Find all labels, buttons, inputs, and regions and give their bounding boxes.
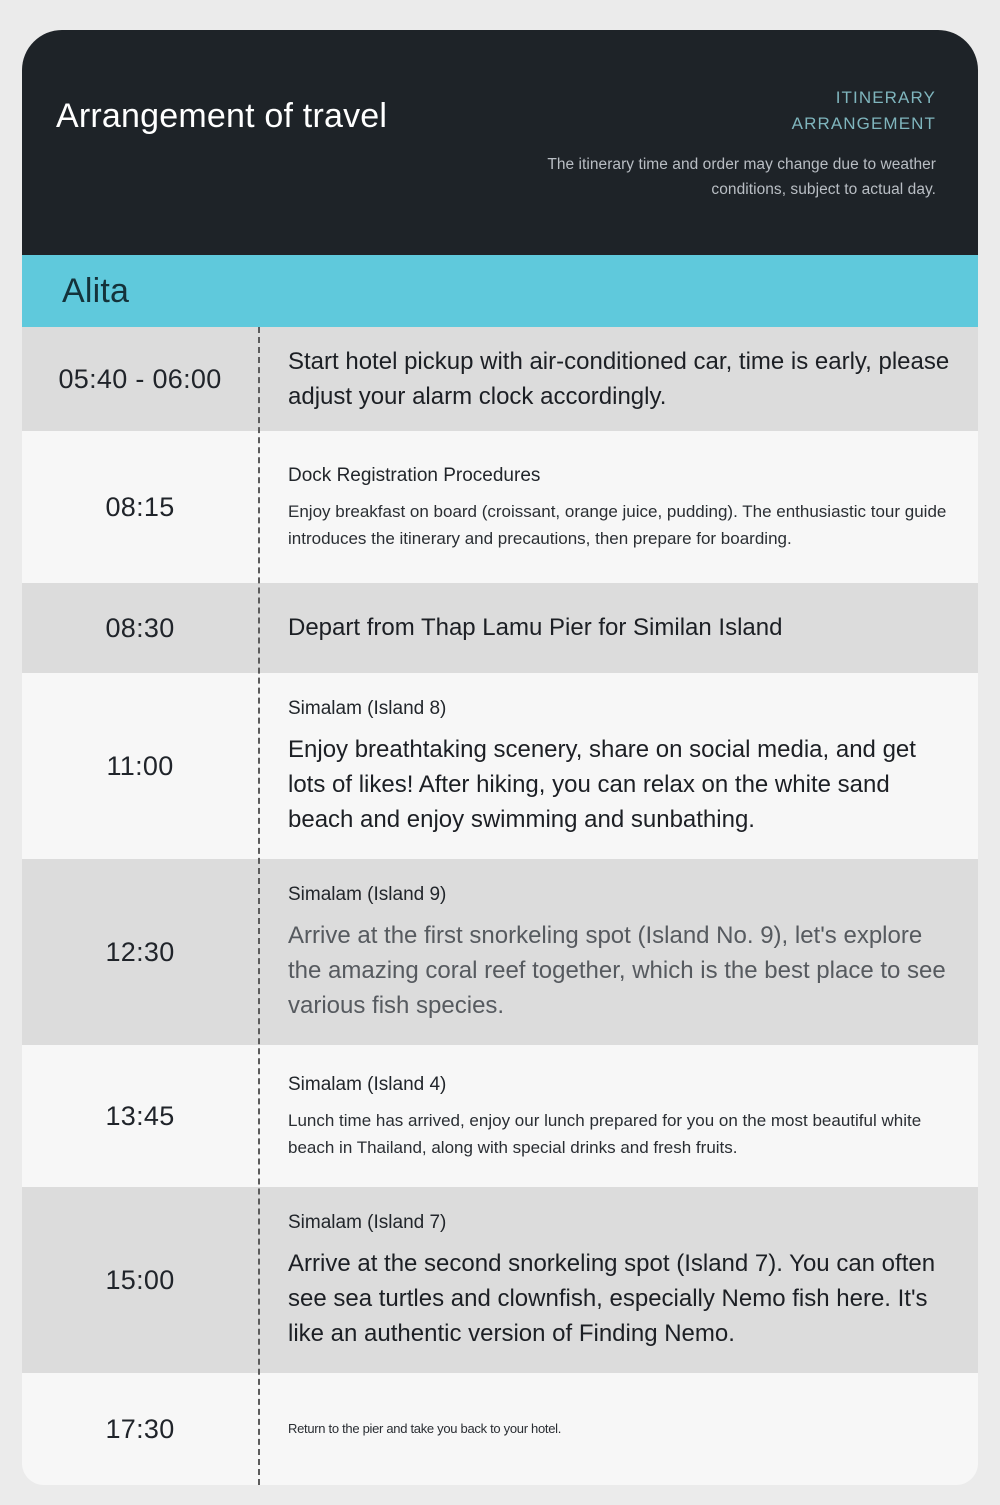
eyebrow-line-1: ITINERARY — [836, 88, 936, 107]
content-cell: Start hotel pickup with air-conditioned … — [258, 327, 978, 431]
time-label: 13:45 — [105, 1101, 174, 1132]
table-row: 13:45 Simalam (Island 4) Lunch time has … — [22, 1045, 978, 1187]
page-title: Arrangement of travel — [56, 92, 492, 141]
table-row: 08:30 Depart from Thap Lamu Pier for Sim… — [22, 583, 978, 673]
activity-description: Start hotel pickup with air-conditioned … — [288, 344, 950, 414]
content-cell: Dock Registration Procedures Enjoy break… — [258, 431, 978, 583]
content-cell: Return to the pier and take you back to … — [258, 1373, 978, 1485]
table-row: 12:30 Simalam (Island 9) Arrive at the f… — [22, 859, 978, 1045]
activity-description: Arrive at the first snorkeling spot (Isl… — [288, 918, 950, 1023]
table-row: 15:00 Simalam (Island 7) Arrive at the s… — [22, 1187, 978, 1373]
activity-description: Enjoy breakfast on board (croissant, ora… — [288, 499, 950, 552]
table-row: 11:00 Simalam (Island 8) Enjoy breathtak… — [22, 673, 978, 859]
content-cell: Simalam (Island 4) Lunch time has arrive… — [258, 1045, 978, 1187]
table-row: 05:40 - 06:00 Start hotel pickup with ai… — [22, 327, 978, 431]
activity-subtitle: Dock Registration Procedures — [288, 462, 950, 490]
time-label: 08:15 — [105, 492, 174, 523]
time-cell: 17:30 — [22, 1373, 258, 1485]
eyebrow-label: ITINERARY ARRANGEMENT — [492, 85, 936, 136]
activity-description: Lunch time has arrived, enjoy our lunch … — [288, 1108, 950, 1161]
activity-subtitle: Simalam (Island 4) — [288, 1071, 950, 1099]
time-label: 15:00 — [105, 1265, 174, 1296]
activity-description: Return to the pier and take you back to … — [288, 1419, 950, 1439]
time-cell: 08:30 — [22, 583, 258, 673]
activity-description: Enjoy breathtaking scenery, share on soc… — [288, 732, 950, 837]
time-label: 11:00 — [106, 751, 173, 782]
header-card: Arrangement of travel ITINERARY ARRANGEM… — [22, 30, 978, 255]
content-cell: Depart from Thap Lamu Pier for Similan I… — [258, 583, 978, 673]
table-row: 08:15 Dock Registration Procedures Enjoy… — [22, 431, 978, 583]
tour-name-band: Alita — [22, 255, 978, 327]
content-cell: Simalam (Island 7) Arrive at the second … — [258, 1187, 978, 1373]
time-cell: 12:30 — [22, 859, 258, 1045]
itinerary-table: 05:40 - 06:00 Start hotel pickup with ai… — [22, 327, 978, 1485]
time-cell: 11:00 — [22, 673, 258, 859]
time-cell: 05:40 - 06:00 — [22, 327, 258, 431]
time-cell: 15:00 — [22, 1187, 258, 1373]
table-row: 17:30 Return to the pier and take you ba… — [22, 1373, 978, 1485]
time-cell: 13:45 — [22, 1045, 258, 1187]
content-cell: Simalam (Island 8) Enjoy breathtaking sc… — [258, 673, 978, 859]
activity-description: Depart from Thap Lamu Pier for Similan I… — [288, 610, 950, 645]
activity-description: Arrive at the second snorkeling spot (Is… — [288, 1246, 950, 1351]
time-label: 17:30 — [105, 1414, 174, 1445]
header-right: ITINERARY ARRANGEMENT The itinerary time… — [492, 30, 978, 202]
content-cell: Simalam (Island 9) Arrive at the first s… — [258, 859, 978, 1045]
time-cell: 08:15 — [22, 431, 258, 583]
time-label: 12:30 — [105, 937, 174, 968]
time-label: 05:40 - 06:00 — [58, 364, 221, 395]
activity-subtitle: Simalam (Island 9) — [288, 881, 950, 909]
itinerary-page: Arrangement of travel ITINERARY ARRANGEM… — [0, 30, 1000, 1505]
eyebrow-line-2: ARRANGEMENT — [792, 114, 936, 133]
activity-subtitle: Simalam (Island 7) — [288, 1209, 950, 1237]
header-left: Arrangement of travel — [22, 30, 492, 141]
header-disclaimer-note: The itinerary time and order may change … — [492, 152, 936, 202]
time-label: 08:30 — [105, 613, 174, 644]
activity-subtitle: Simalam (Island 8) — [288, 695, 950, 723]
tour-name-label: Alita — [62, 272, 129, 311]
